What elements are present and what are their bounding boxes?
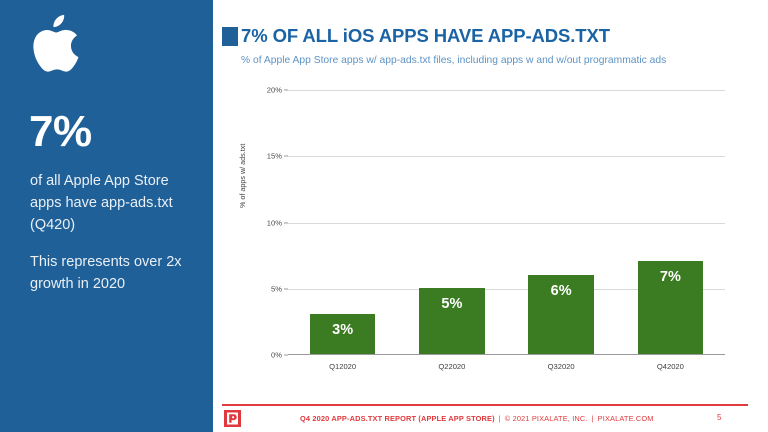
x-axis-tick-label: Q32020	[548, 362, 575, 371]
footer-copyright: © 2021 PIXALATE, INC.	[505, 414, 588, 423]
bar-chart: % of apps w/ ads.txt 0%5%10%15%20%3%Q120…	[240, 80, 740, 380]
x-axis-line	[288, 354, 725, 355]
gridline	[288, 156, 725, 157]
page-title: 7% OF ALL iOS APPS HAVE APP-ADS.TXT	[241, 25, 610, 47]
chart-bar[interactable]: 7%	[638, 261, 704, 354]
bar-value-label: 7%	[660, 269, 681, 285]
sidebar-stat-description-secondary: This represents over 2x growth in 2020	[30, 251, 205, 295]
y-axis-tick-label: 0%	[271, 351, 282, 360]
chart-bar[interactable]: 3%	[310, 314, 376, 354]
gridline	[288, 223, 725, 224]
footer-divider	[222, 404, 748, 406]
apple-logo-icon	[28, 14, 84, 72]
y-axis-tick-mark	[284, 222, 288, 223]
y-axis-tick-mark	[284, 355, 288, 356]
footer-separator-1: |	[495, 414, 505, 423]
sidebar-stat-number: 7%	[29, 110, 92, 154]
sidebar-stat-description: of all Apple App Store apps have app-ads…	[30, 170, 200, 236]
sidebar-panel: 7% of all Apple App Store apps have app-…	[0, 0, 213, 432]
page-number: 5	[717, 413, 721, 422]
chart-bar[interactable]: 5%	[419, 288, 485, 354]
x-axis-tick-label: Q22020	[438, 362, 465, 371]
footer-separator-2: |	[588, 414, 598, 423]
bar-value-label: 3%	[332, 322, 353, 338]
gridline	[288, 90, 725, 91]
page-subtitle: % of Apple App Store apps w/ app-ads.txt…	[241, 55, 666, 66]
footer-text: Q4 2020 APP-ADS.TXT REPORT (APPLE APP ST…	[300, 414, 654, 423]
chart-bar[interactable]: 6%	[528, 275, 594, 355]
y-axis-tick-label: 20%	[267, 86, 282, 95]
y-axis-title: % of apps w/ ads.txt	[238, 144, 247, 208]
bar-value-label: 6%	[551, 283, 572, 299]
footer-website[interactable]: PIXALATE.COM	[598, 414, 654, 423]
y-axis-tick-label: 15%	[267, 152, 282, 161]
chart-plot-area: 0%5%10%15%20%3%Q120205%Q220206%Q320207%Q…	[288, 90, 725, 355]
title-accent-block	[222, 27, 238, 46]
y-axis-tick-mark	[284, 156, 288, 157]
x-axis-tick-label: Q42020	[657, 362, 684, 371]
slide-canvas: 7% of all Apple App Store apps have app-…	[0, 0, 768, 432]
y-axis-tick-label: 5%	[271, 284, 282, 293]
y-axis-tick-mark	[284, 288, 288, 289]
x-axis-tick-label: Q12020	[329, 362, 356, 371]
y-axis-tick-mark	[284, 90, 288, 91]
y-axis-tick-label: 10%	[267, 218, 282, 227]
footer-report-label: Q4 2020 APP-ADS.TXT REPORT (APPLE APP ST…	[300, 414, 495, 423]
bar-value-label: 5%	[441, 296, 462, 312]
pixalate-logo-icon	[224, 410, 241, 427]
